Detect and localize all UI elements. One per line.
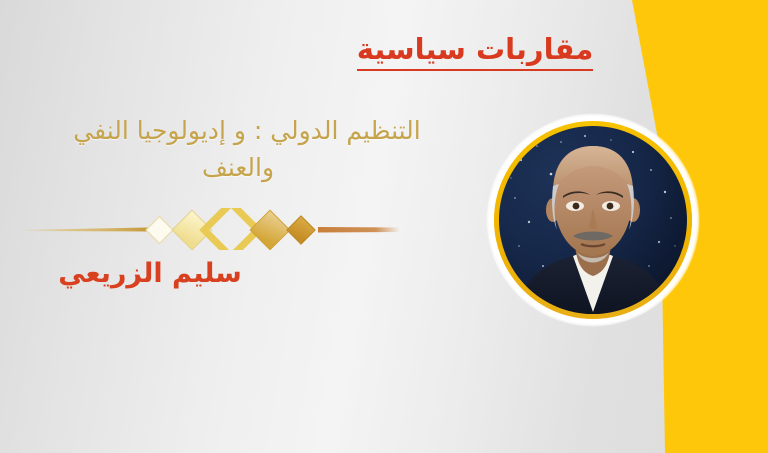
- divider-line-right: [318, 227, 400, 233]
- presentation-slide: مقاربات سياسية التنظيم الدولي : و إديولو…: [0, 0, 768, 453]
- author-name: سليم الزريعي: [58, 258, 242, 289]
- title-line-2: والعنف: [8, 149, 468, 188]
- eye-left: [573, 203, 580, 210]
- lecture-title: التنظيم الدولي : و إديولوجيا النفي والعن…: [8, 112, 486, 188]
- divider-diamond-1: [146, 217, 173, 244]
- portrait-container: [487, 114, 699, 338]
- divider-diamond-3: [204, 208, 258, 250]
- divider-diamond-5: [287, 216, 315, 244]
- category-headline: مقاربات سياسية: [330, 34, 620, 71]
- divider-line-left: [18, 228, 148, 232]
- portrait-figure: [499, 126, 687, 314]
- author-block: سليم الزريعي: [0, 258, 300, 290]
- title-line-1: التنظيم الدولي : و إديولوجيا النفي: [8, 112, 486, 151]
- portrait-photo: [499, 126, 687, 314]
- category-label: مقاربات سياسية: [357, 34, 594, 71]
- divider-diamond-4: [250, 210, 290, 250]
- ornamental-divider: [0, 208, 400, 250]
- eye-right: [607, 203, 614, 210]
